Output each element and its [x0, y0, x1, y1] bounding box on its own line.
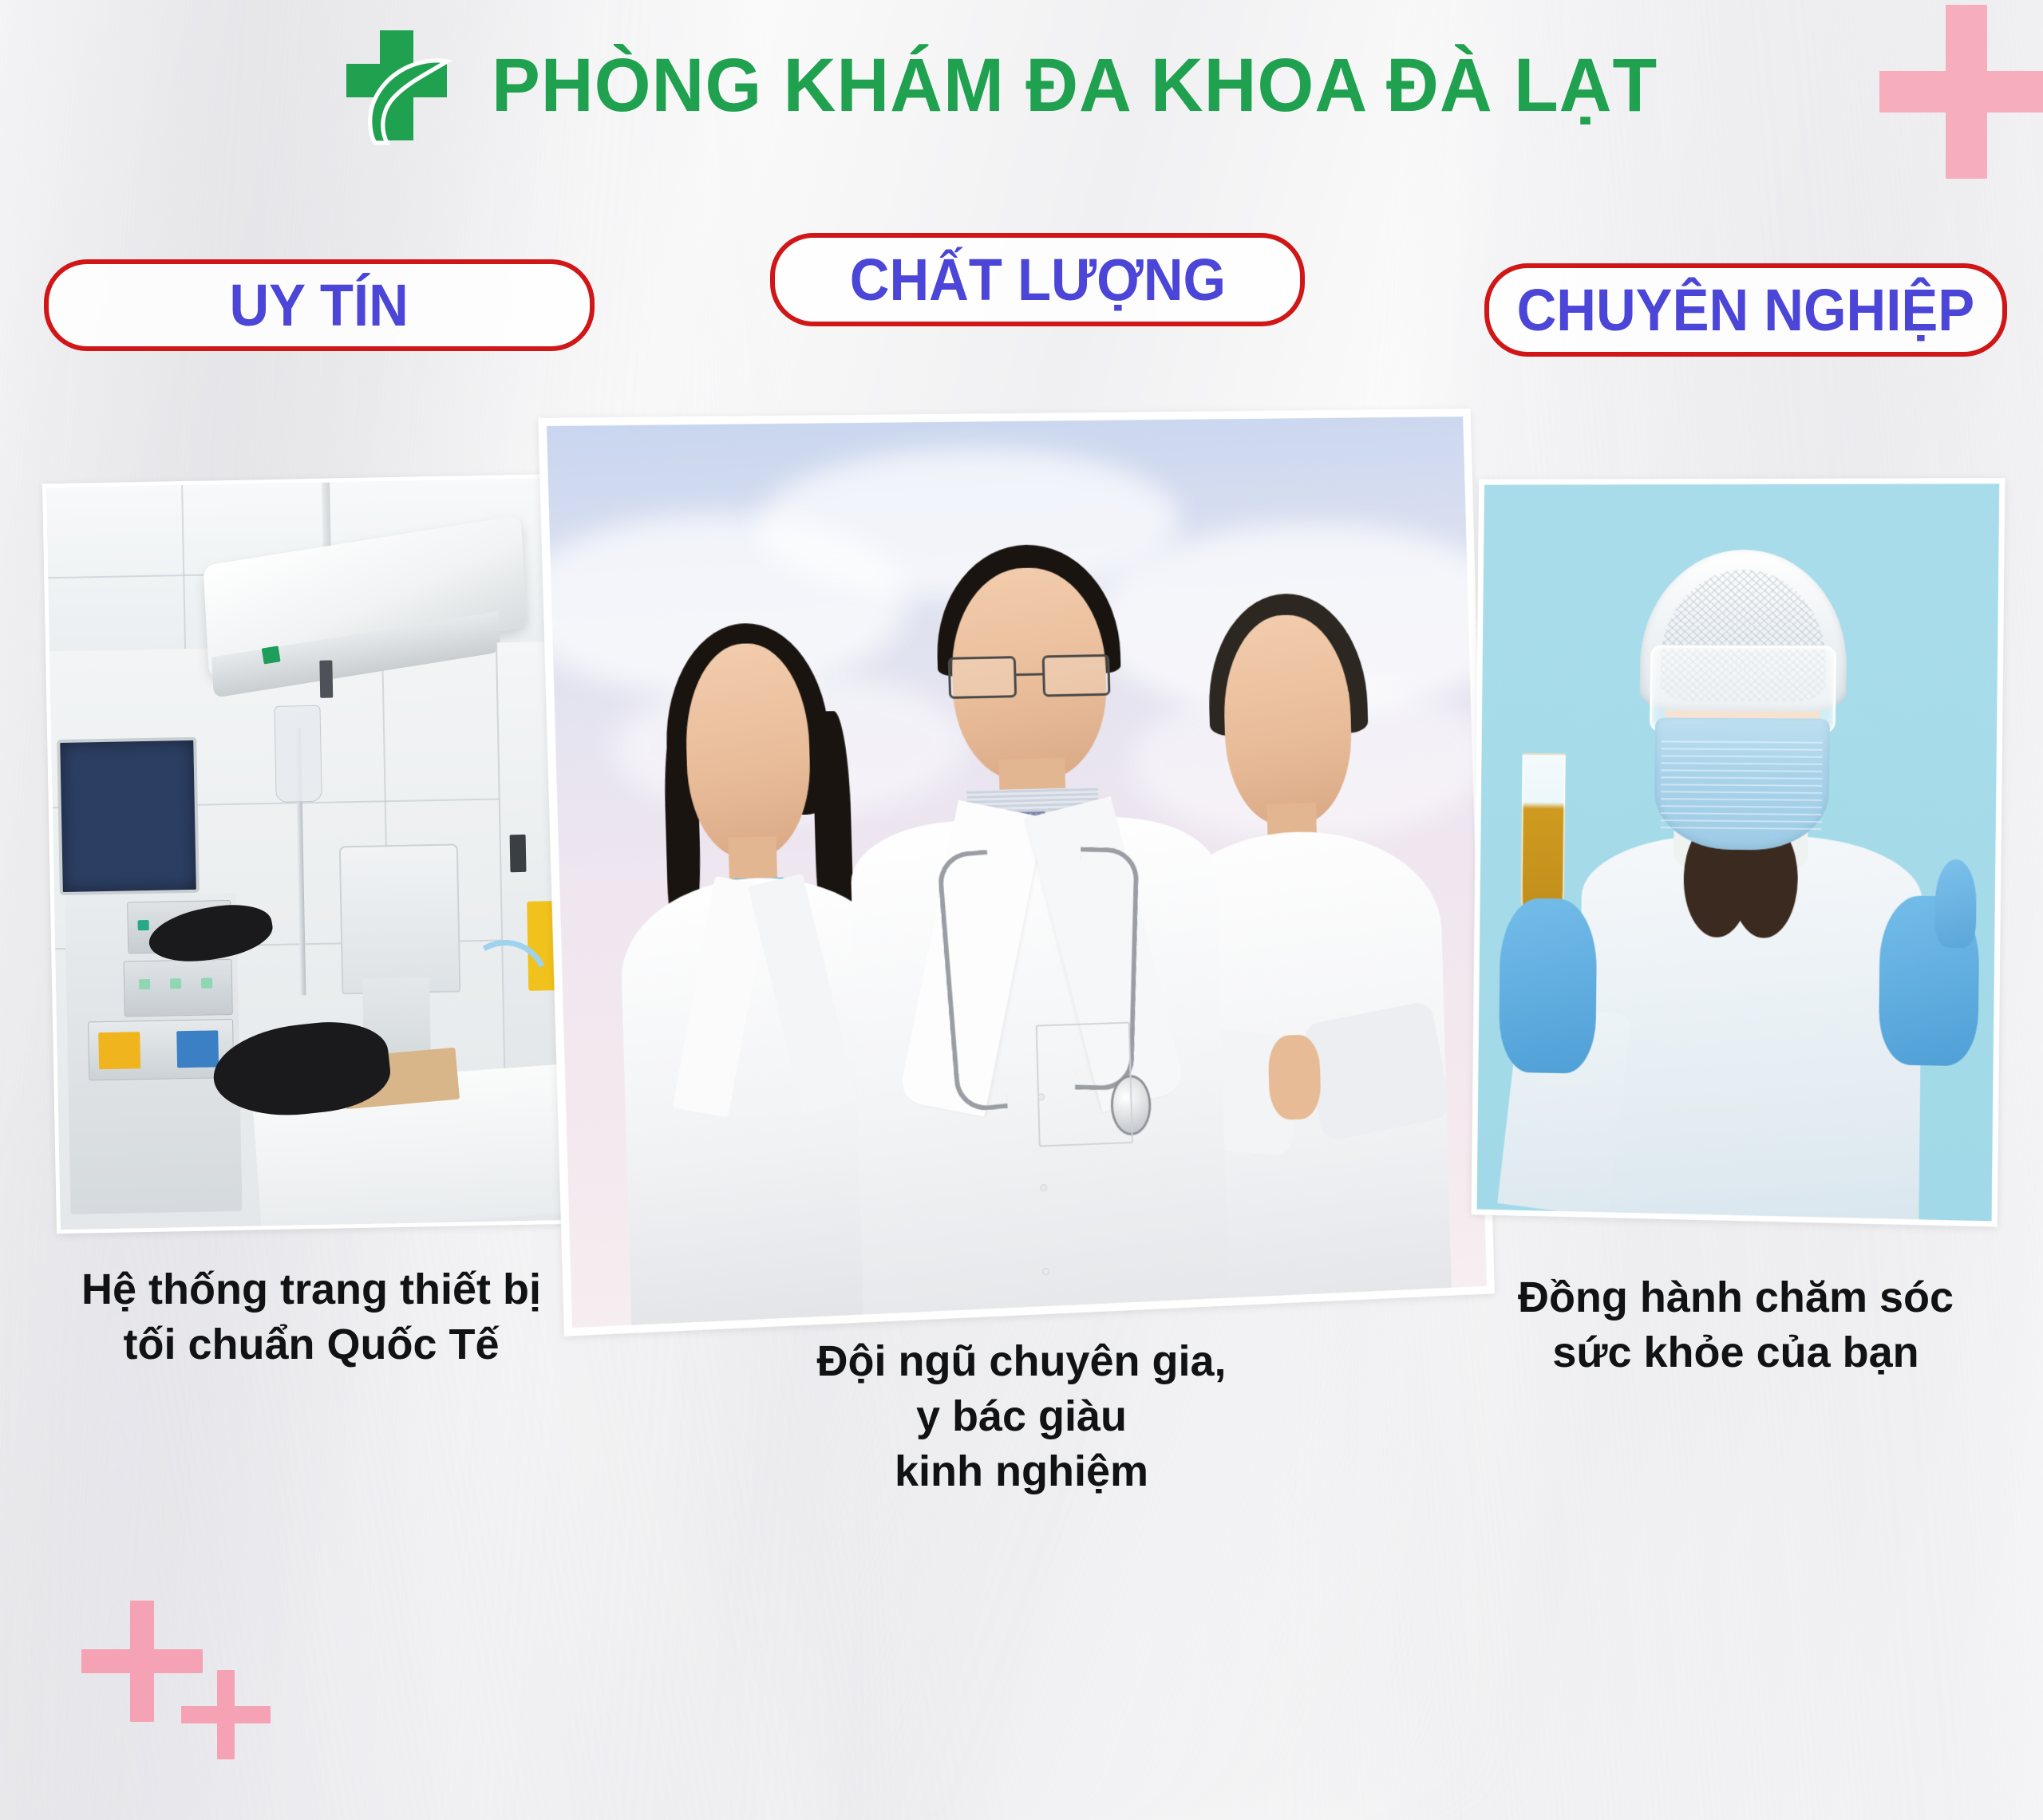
- pink-cross-icon-bottom-left-small: [181, 1670, 271, 1759]
- glove-left-icon: [1499, 898, 1597, 1073]
- glasses-icon: [948, 654, 1110, 700]
- photo-card-lab[interactable]: [1472, 478, 2005, 1226]
- badge-uy-tin-label: UY TÍN: [230, 276, 409, 335]
- medical-cross-leaf-logo-icon: [337, 25, 456, 146]
- lab-technician-image: [1477, 484, 2000, 1221]
- badge-chat-luong[interactable]: CHẤT LƯỢNG: [770, 233, 1305, 326]
- caption-equipment: Hệ thống trang thiết bị tối chuẩn Quốc T…: [32, 1262, 591, 1372]
- photo-card-equipment[interactable]: [42, 474, 583, 1234]
- face-mask-icon: [1654, 717, 1830, 851]
- doctors-team-image: [547, 417, 1487, 1328]
- header: PHÒNG KHÁM ĐA KHOA ĐÀ LẠT: [0, 18, 2043, 153]
- badge-chuyen-nghiep[interactable]: CHUYÊN NGHIỆP: [1484, 263, 2007, 357]
- photo-card-doctors[interactable]: [538, 409, 1495, 1336]
- operating-room-image: [46, 478, 579, 1230]
- thumbs-up-icon: [1934, 859, 1978, 948]
- badge-chat-luong-label: CHẤT LƯỢNG: [849, 251, 1225, 310]
- page-title: PHÒNG KHÁM ĐA KHOA ĐÀ LẠT: [492, 48, 1658, 124]
- doctor-main: [841, 543, 1228, 1315]
- caption-lab: Đồng hành chăm sóc sức khỏe của bạn: [1460, 1270, 2011, 1380]
- caption-doctors: Đội ngũ chuyên gia, y bác giàu kinh nghi…: [710, 1334, 1333, 1499]
- badge-chuyen-nghiep-label: CHUYÊN NGHIỆP: [1517, 281, 1975, 340]
- badge-uy-tin[interactable]: UY TÍN: [44, 259, 595, 351]
